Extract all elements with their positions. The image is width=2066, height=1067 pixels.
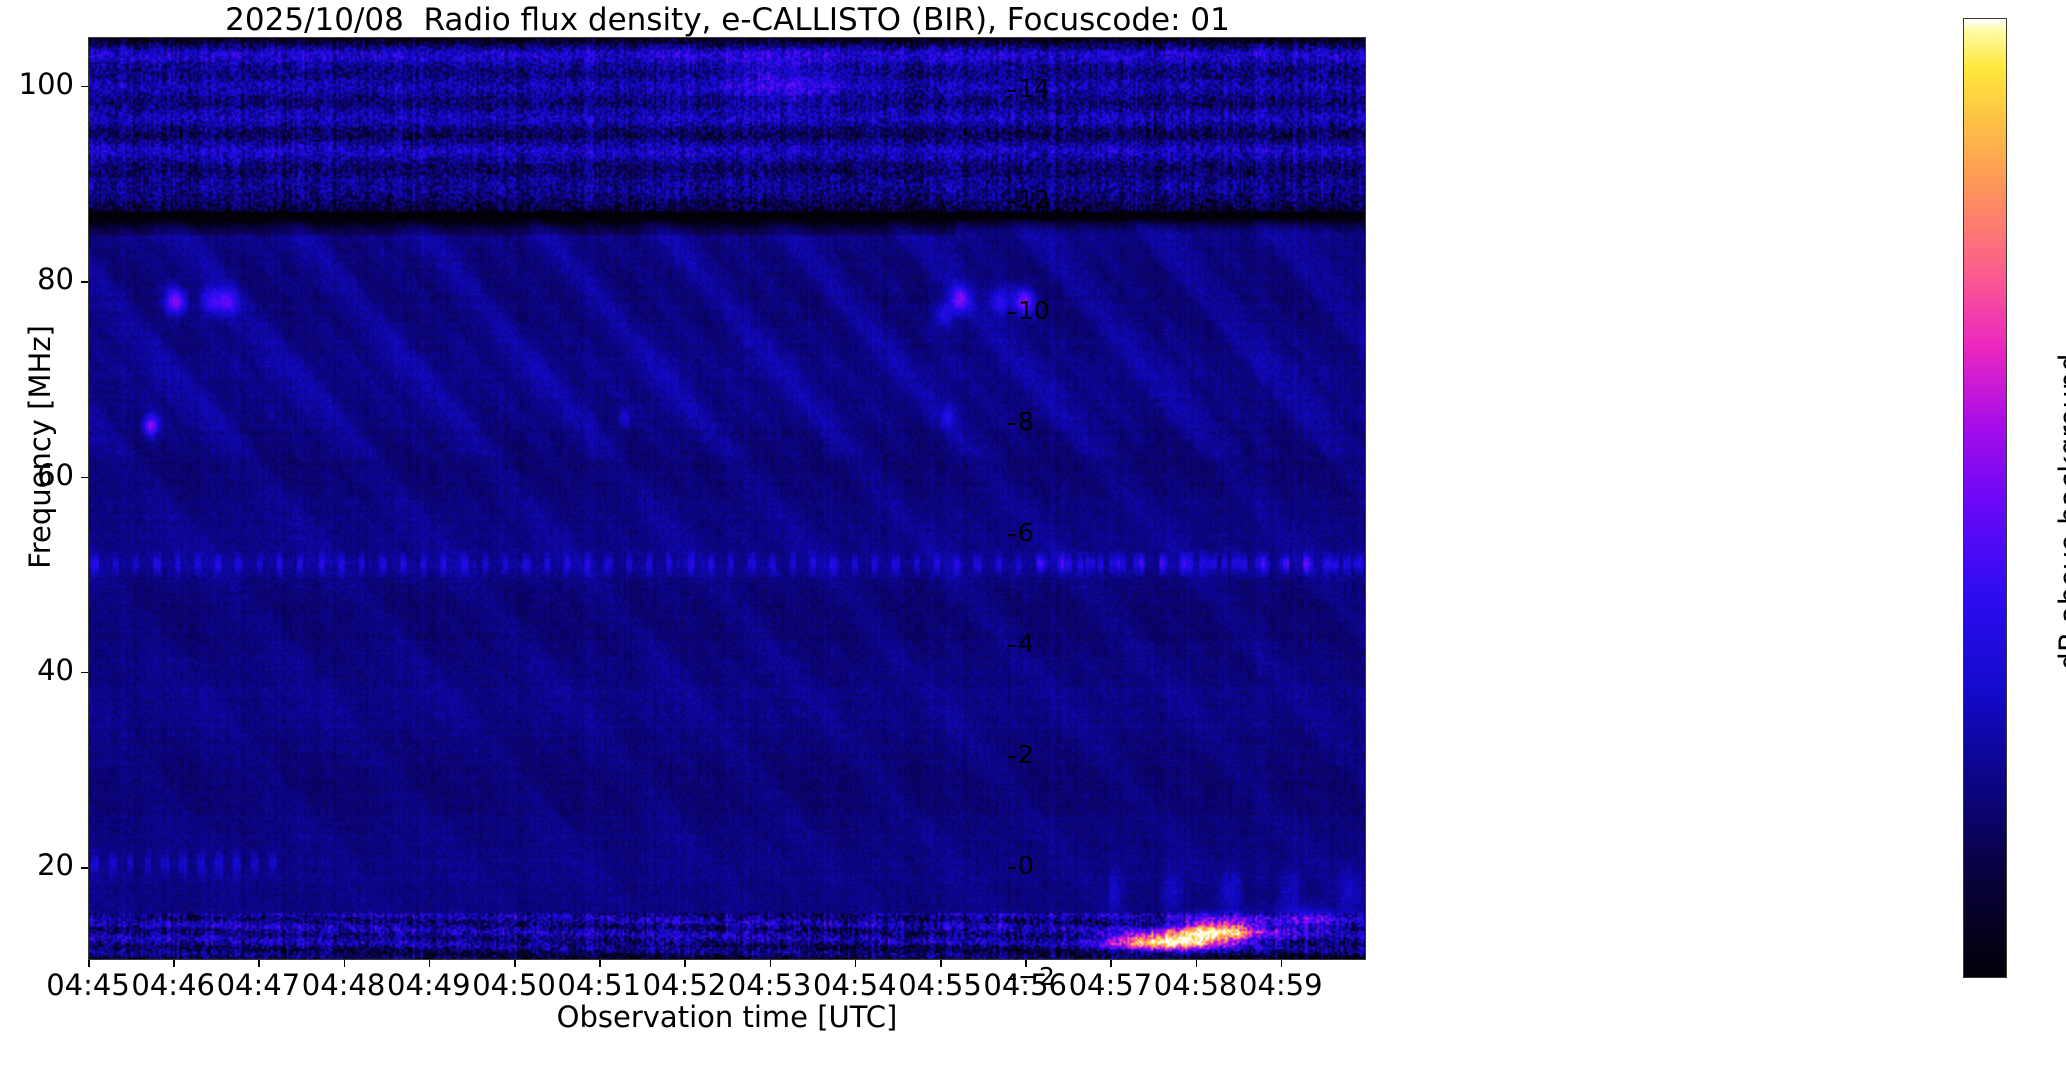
y-tick-label: 20	[37, 848, 74, 882]
x-tick-mark	[1196, 960, 1198, 967]
x-tick-mark	[344, 960, 346, 967]
y-tick-mark	[81, 281, 88, 283]
x-tick-mark	[599, 960, 601, 967]
x-tick-mark	[684, 960, 686, 967]
x-tick-mark	[514, 960, 516, 967]
spectrogram-plot-area[interactable]	[88, 37, 1366, 960]
y-tick-label: 40	[37, 653, 74, 687]
x-tick-mark	[1281, 960, 1283, 967]
colorbar[interactable]	[1963, 18, 2007, 978]
figure-title: 2025/10/08 Radio flux density, e-CALLIST…	[0, 2, 1455, 38]
y-tick-label: 60	[37, 458, 74, 492]
x-tick-mark	[1025, 960, 1027, 967]
y-tick-label: 100	[19, 67, 74, 101]
y-tick-mark	[81, 477, 88, 479]
x-tick-mark	[855, 960, 857, 967]
spectrogram-image	[89, 38, 1365, 959]
x-tick-mark	[940, 960, 942, 967]
x-tick-mark	[429, 960, 431, 967]
x-tick-mark	[88, 960, 90, 967]
spectrogram-figure: 2025/10/08 Radio flux density, e-CALLIST…	[0, 0, 2066, 1067]
y-tick-mark	[81, 672, 88, 674]
y-tick-label: 80	[37, 262, 74, 296]
x-tick-mark	[1110, 960, 1112, 967]
colorbar-label: dB above background	[2053, 132, 2066, 892]
x-tick-mark	[770, 960, 772, 967]
colorbar-gradient	[1964, 19, 2006, 977]
x-tick-mark	[258, 960, 260, 967]
x-tick-mark	[173, 960, 175, 967]
x-tick-label: 04:59	[1219, 968, 1343, 1002]
x-axis-label: Observation time [UTC]	[88, 1000, 1366, 1034]
y-tick-mark	[81, 86, 88, 88]
y-tick-mark	[81, 867, 88, 869]
